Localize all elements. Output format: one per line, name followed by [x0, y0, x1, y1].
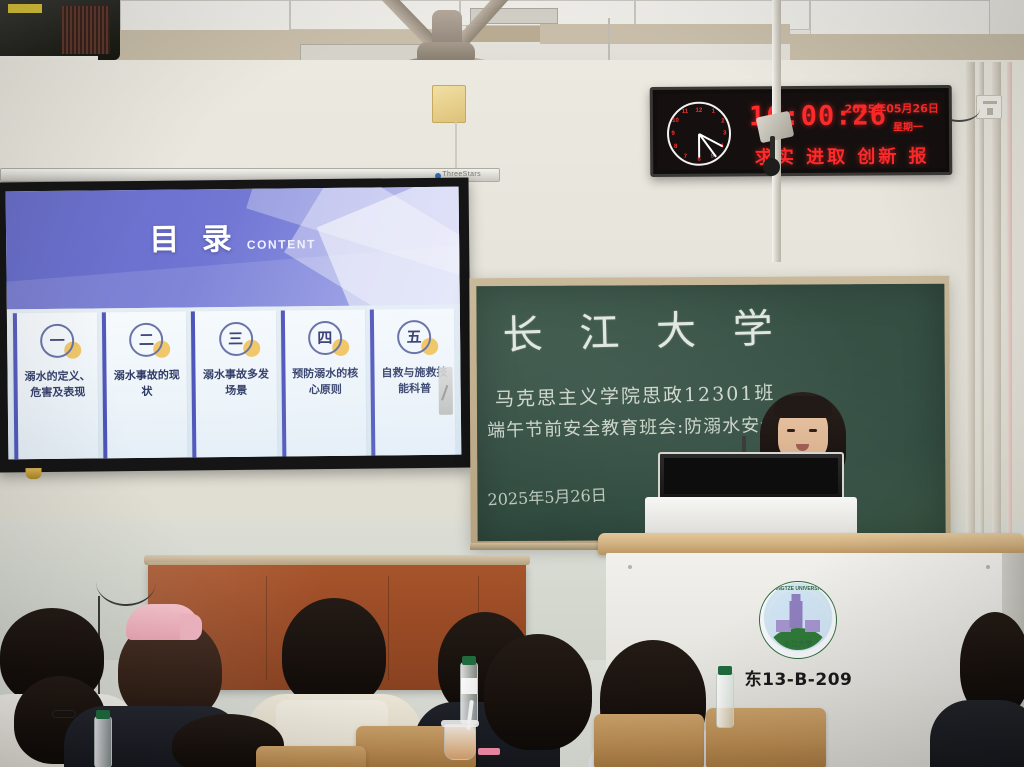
- led-clock-sign: 12 1 2 3 4 5 6 7 8 9 10 11 16:00:26 2025…: [650, 85, 953, 177]
- analog-clock-face: 12 1 2 3 4 5 6 7 8 9 10 11: [667, 101, 731, 165]
- interactive-pen-icon[interactable]: [438, 367, 453, 415]
- toc-label: 预防溺水的核心原则: [285, 366, 366, 398]
- wall-control-box[interactable]: [432, 85, 466, 123]
- slide-subtitle: CONTENT: [247, 237, 316, 252]
- clock-numeral: 12: [695, 108, 702, 114]
- presentation-slide: 目 录 CONTENT 一 溺水的定义、危害及表现 二: [6, 187, 462, 460]
- ceiling-tile: [810, 0, 990, 36]
- ceiling-tile: [120, 0, 290, 34]
- drink-cup[interactable]: [444, 724, 476, 760]
- chair-back: [594, 714, 704, 767]
- emblem-english-name: YANGTZE UNIVERSITY: [771, 586, 826, 592]
- control-box-wire: [455, 122, 457, 170]
- teacher-bangs: [774, 396, 832, 418]
- microphone-icon: [763, 158, 780, 176]
- panel-screw: [628, 565, 632, 569]
- toc-number-badge: 一: [40, 324, 74, 358]
- toc-numeral: 五: [397, 320, 431, 354]
- clock-numeral: 3: [723, 131, 726, 137]
- slide-header: 目 录 CONTENT: [6, 187, 460, 310]
- slide-title-group: 目 录 CONTENT: [6, 212, 459, 261]
- student-torso: [930, 700, 1024, 767]
- slide-title: 目 录: [149, 214, 238, 259]
- clock-numeral: 7: [684, 154, 687, 160]
- podium-monitor[interactable]: [658, 452, 844, 500]
- panel-screw: [986, 565, 990, 569]
- chair-back: [256, 746, 366, 767]
- toc-number-badge: 二: [129, 323, 163, 357]
- projector-vent: [62, 6, 110, 54]
- document-camera-base: [645, 497, 857, 537]
- toc-label: 溺水事故的现状: [107, 367, 188, 399]
- bottle-cap: [462, 656, 476, 665]
- bottle-cap: [718, 666, 732, 675]
- student-head: [282, 598, 386, 708]
- toc-numeral: 三: [218, 322, 252, 356]
- eyeglasses-icon: [52, 710, 76, 718]
- toc-card-2: 二 溺水事故的现状: [102, 311, 188, 458]
- sticky-note: [478, 748, 500, 755]
- teacher-eye: [809, 429, 817, 432]
- ceiling-wire: [608, 18, 610, 64]
- university-emblem: YANGTZE UNIVERSITY 长江大学: [759, 581, 837, 659]
- projection-screen: 目 录 CONTENT 一 溺水的定义、危害及表现 二: [0, 178, 472, 473]
- toc-number-badge: 三: [218, 322, 252, 356]
- wall-pipe: [979, 62, 984, 567]
- toc-card-4: 四 预防溺水的核心原则: [280, 310, 366, 457]
- clock-numeral: 1: [712, 108, 715, 114]
- toc-label: 溺水事故多发场景: [196, 366, 277, 398]
- clock-numeral: 10: [672, 118, 679, 124]
- wall-pipe: [992, 62, 1001, 567]
- projector: [0, 0, 120, 60]
- toc-number-badge: 五: [397, 320, 431, 354]
- emblem-chinese-name: 长江大学: [760, 639, 836, 649]
- room-number-label: 东13-B-209: [726, 665, 871, 690]
- monitor-screen: [664, 458, 838, 494]
- ceiling-beam: [540, 24, 790, 44]
- bottle-cap: [96, 710, 110, 719]
- blackboard-title: 长 江 大 学: [502, 296, 786, 361]
- teacher-eye: [787, 429, 795, 432]
- toc-number-badge: 四: [308, 321, 342, 355]
- wall-pipe: [1007, 62, 1012, 567]
- cap-brim: [180, 614, 202, 640]
- blackboard-date: 2025年5月26日: [487, 481, 607, 510]
- clock-numeral: 8: [674, 144, 677, 150]
- toc-label: 溺水的定义、危害及表现: [17, 368, 98, 400]
- toc-numeral: 一: [40, 324, 74, 358]
- toc-card-1: 一 溺水的定义、危害及表现: [13, 312, 99, 459]
- wall-pipe: [966, 62, 975, 567]
- bottle-label: [461, 678, 477, 694]
- cup-lid: [441, 720, 479, 727]
- led-weekday-display: 星期一: [893, 118, 923, 133]
- classroom-photo: ThreeStars 目 录 CONTENT 一: [0, 0, 1024, 767]
- led-panel: 12 1 2 3 4 5 6 7 8 9 10 11 16:00:26 2025…: [657, 92, 946, 170]
- clock-numeral: 9: [672, 131, 675, 137]
- toc-card-5: 五 自救与施救技能科普: [370, 309, 456, 456]
- toc-card-3: 三 溺水事故多发场景: [191, 310, 277, 457]
- projector-label: [8, 4, 42, 13]
- water-bottle[interactable]: [716, 672, 734, 728]
- podium-countertop: [598, 533, 1024, 555]
- clock-numeral: 11: [682, 109, 688, 115]
- led-date-display: 2025年05月26日: [845, 100, 939, 117]
- student-head: [484, 634, 592, 750]
- clock-numeral: 2: [721, 119, 724, 125]
- slide-toc-list: 一 溺水的定义、危害及表现 二 溺水事故的现状 三 溺水事: [7, 305, 462, 460]
- screen-pull-knob[interactable]: [25, 468, 41, 479]
- water-bottle[interactable]: [94, 716, 112, 767]
- toc-numeral: 四: [308, 321, 342, 355]
